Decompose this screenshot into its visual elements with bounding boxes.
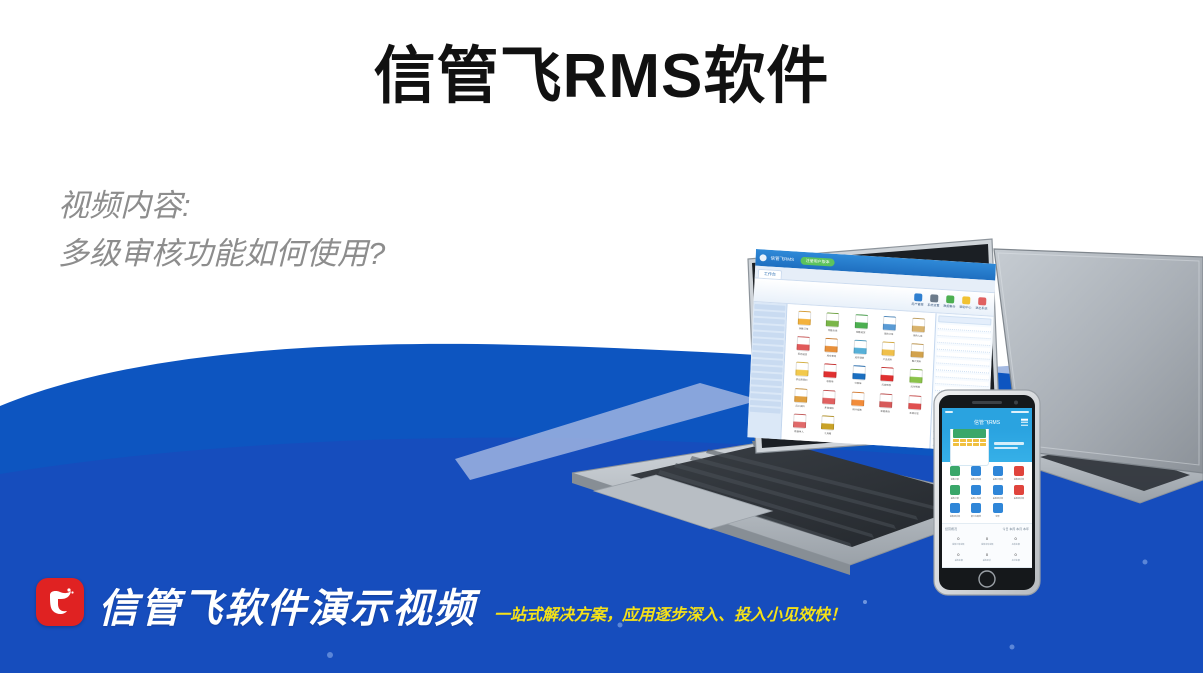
phone-stat-cell: 0销售出库金额 (974, 534, 1001, 548)
phone-banner (942, 429, 1032, 463)
phone-app-icon (993, 485, 1003, 495)
phone-stat-label: 销售出库金额 (981, 542, 993, 545)
phone-stat-cell: 0采购金额 (945, 550, 972, 564)
phone-app-item[interactable]: 采购退货单 (1009, 485, 1029, 501)
smartphone-icon (520, 235, 1203, 605)
phone-app-label: 采购订单单 (993, 478, 1003, 481)
video-content-subtitle: 视频内容: 多级审核功能如何使用? (58, 182, 385, 278)
phone-app-item[interactable]: 销售订单 (945, 466, 965, 482)
phone-app-grid[interactable]: 销售订单销售出库单采购订单单销售退货单采购订单采购入库单采购退货单采购退货单销售… (942, 462, 1032, 523)
stats-filters[interactable]: 今日 本周 本月 本年 (1002, 527, 1029, 531)
banner-caption (994, 442, 1024, 449)
phone-app-title: 信管飞RMS (974, 419, 1000, 426)
phone-app-icon (1014, 466, 1024, 476)
phone-tabbar[interactable]: 首页单据录入报表我的 (942, 567, 1032, 568)
subtitle-line-1: 视频内容: (58, 182, 385, 230)
phone-stats-cells: 0销售订单金额0销售出库金额0应收金额0采购金额0采购退货0应付金额 (945, 534, 1029, 563)
hamburger-menu-icon[interactable] (1021, 419, 1028, 426)
subtitle-line-2: 多级审核功能如何使用? (58, 230, 385, 278)
phone-app-label: 采购订单 (951, 496, 959, 499)
phone-app-label: 销售退货单 (1014, 478, 1024, 481)
phone-stat-value: 0 (957, 552, 959, 557)
phone-app-label: 银行存取款 (971, 514, 981, 517)
phone-stat-value: 0 (986, 552, 988, 557)
phone-app-item[interactable]: 采购订单 (945, 485, 965, 501)
brand-name: 信管飞软件演示视频 (98, 589, 476, 629)
phone-app-icon (950, 466, 960, 476)
phone-app-icon (950, 503, 960, 513)
brand-tagline: 一站式解决方案，应用逐步深入、投入小见效快！ (494, 608, 846, 624)
phone-app-item[interactable]: 销售退货单 (945, 503, 965, 519)
phone-app-label: 全部 (996, 514, 1000, 517)
phone-app-item[interactable]: 全部 (988, 503, 1008, 519)
phone-app-label: 销售订单 (951, 478, 959, 481)
phone-stat-label: 采购退货 (983, 558, 991, 561)
phone-statusbar (942, 408, 1032, 416)
phone-app-icon (993, 466, 1003, 476)
phone-app-icon (971, 466, 981, 476)
phone-stat-cell: 0采购退货 (974, 550, 1001, 564)
phone-stat-label: 应收金额 (1012, 542, 1020, 545)
phone-stat-cell: 0销售订单金额 (945, 534, 972, 548)
phone-app-label: 采购入库单 (971, 496, 981, 499)
phone-screen-ui: 信管飞RMS 销售订单销售出库单采购订单单销售退货单采购订单采购入库单采购退货单… (942, 408, 1032, 568)
phone-app-label: 采购退货单 (1014, 496, 1024, 499)
device-mockup-group: 信管飞RMS 注册用户版本 工作台 用户管理 系统设置 数据备份 (520, 235, 1203, 605)
phone-app-icon (971, 485, 981, 495)
phone-app-label: 销售出库单 (971, 478, 981, 481)
phone-app-header: 信管飞RMS (942, 416, 1032, 429)
phone-stat-cell: 0应付金额 (1002, 550, 1029, 564)
brand-bar: 信管飞软件演示视频 一站式解决方案，应用逐步深入、投入小见效快！ (36, 578, 846, 629)
banner-device-illustration (950, 426, 989, 466)
phone-app-icon (993, 503, 1003, 513)
phone-stat-label: 销售订单金额 (952, 542, 964, 545)
phone-stat-label: 采购金额 (954, 558, 962, 561)
xinguanfei-bird-logo-icon (36, 578, 84, 626)
phone-stat-cell: 0应收金额 (1002, 534, 1029, 548)
phone-stat-value: 0 (986, 536, 988, 541)
phone-app-label: 销售退货单 (950, 514, 960, 517)
phone-app-item[interactable]: 销售退货单 (1009, 466, 1029, 482)
stats-title: 经营概况 (945, 527, 957, 531)
page-title: 信管飞RMS软件 (0, 44, 1203, 109)
phone-app-icon (1014, 485, 1024, 495)
phone-app-item[interactable]: 银行存取款 (966, 503, 986, 519)
phone-stat-value: 0 (957, 536, 959, 541)
phone-stat-label: 应付金额 (1012, 558, 1020, 561)
phone-app-icon (971, 503, 981, 513)
phone-stat-value: 0 (1015, 552, 1017, 557)
phone-stats-panel: 经营概况 今日 本周 本月 本年 0销售订单金额0销售出库金额0应收金额0采购金… (942, 523, 1032, 567)
phone-stat-value: 0 (1015, 536, 1017, 541)
phone-app-item[interactable]: 采购订单单 (988, 466, 1008, 482)
phone-app-item[interactable]: 销售出库单 (966, 466, 986, 482)
promo-slide: 信管飞RMS软件 视频内容: 多级审核功能如何使用? (0, 0, 1203, 673)
phone-app-item[interactable]: 采购退货单 (988, 485, 1008, 501)
phone-app-icon (950, 485, 960, 495)
phone-stats-header: 经营概况 今日 本周 本月 本年 (945, 527, 1029, 531)
phone-app-label: 采购退货单 (993, 496, 1003, 499)
phone-app-item[interactable]: 采购入库单 (966, 485, 986, 501)
